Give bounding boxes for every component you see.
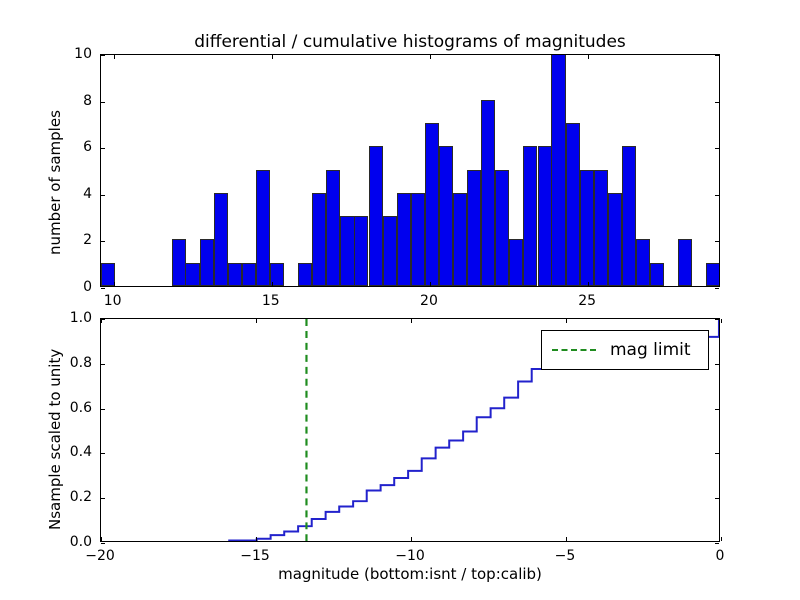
- histogram-bar: [523, 146, 537, 286]
- y-tick-mark: [715, 55, 719, 56]
- bottom-axis-label-x: magnitude (bottom:isnt / top:calib): [160, 565, 660, 583]
- y-tick-mark: [101, 364, 105, 365]
- histogram-bar: [298, 263, 312, 286]
- x-tick-label: 10: [104, 293, 122, 309]
- differential-histogram-axes: [100, 54, 720, 287]
- histogram-bar: [354, 216, 368, 286]
- histogram-bar: [383, 216, 397, 286]
- histogram-bar: [608, 193, 622, 286]
- y-tick-label: 0: [48, 279, 92, 295]
- y-tick-mark: [101, 241, 105, 242]
- x-tick-mark: [256, 537, 257, 541]
- x-tick-mark: [272, 55, 273, 59]
- x-tick-label: −10: [395, 548, 425, 564]
- x-tick-label: 15: [262, 293, 280, 309]
- x-tick-mark: [721, 319, 722, 323]
- histogram-bar: [509, 239, 523, 286]
- x-tick-mark: [588, 55, 589, 59]
- histogram-bar: [566, 123, 580, 286]
- histogram-bar: [594, 170, 608, 287]
- histogram-bar: [481, 100, 495, 286]
- histogram-bar: [636, 239, 650, 286]
- x-tick-label: −20: [85, 548, 115, 564]
- x-tick-mark: [566, 319, 567, 323]
- y-tick-mark: [715, 543, 719, 544]
- histogram-bar: [369, 146, 383, 286]
- histogram-bar: [214, 193, 228, 286]
- histogram-bar: [467, 170, 481, 287]
- histogram-bar: [495, 170, 509, 287]
- mag-limit-legend-label: mag limit: [610, 340, 691, 360]
- histogram-bar: [256, 170, 270, 287]
- x-tick-label: 0: [716, 548, 725, 564]
- y-tick-mark: [101, 319, 105, 320]
- x-tick-label: 25: [578, 293, 596, 309]
- y-tick-mark: [715, 498, 719, 499]
- x-tick-mark: [411, 319, 412, 323]
- y-tick-mark: [715, 319, 719, 320]
- histogram-bar: [200, 239, 214, 286]
- y-tick-label: 0.8: [48, 355, 92, 371]
- figure-canvas: differential / cumulative histograms of …: [0, 0, 800, 600]
- histogram-bar: [622, 146, 636, 286]
- x-tick-label: −15: [240, 548, 270, 564]
- histogram-bar: [439, 146, 453, 286]
- histogram-bar: [650, 263, 664, 286]
- y-tick-label: 0.6: [48, 400, 92, 416]
- y-tick-mark: [715, 288, 719, 289]
- x-tick-mark: [430, 282, 431, 286]
- x-tick-mark: [114, 55, 115, 59]
- y-tick-mark: [715, 195, 719, 196]
- histogram-bar: [580, 170, 594, 287]
- x-tick-mark: [272, 282, 273, 286]
- y-tick-mark: [101, 453, 105, 454]
- x-tick-mark: [721, 537, 722, 541]
- histogram-bar: [678, 239, 692, 286]
- y-tick-label: 6: [48, 139, 92, 155]
- y-tick-label: 0.4: [48, 444, 92, 460]
- x-tick-mark: [588, 282, 589, 286]
- y-tick-mark: [101, 195, 105, 196]
- histogram-bar: [228, 263, 242, 286]
- differential-plot-area: [101, 55, 719, 286]
- histogram-bar: [185, 263, 199, 286]
- legend-box: mag limit: [541, 330, 709, 370]
- y-tick-label: 0.0: [48, 534, 92, 550]
- y-tick-mark: [715, 453, 719, 454]
- y-tick-mark: [101, 55, 105, 56]
- y-tick-label: 0.2: [48, 489, 92, 505]
- y-tick-mark: [715, 364, 719, 365]
- y-tick-label: 2: [48, 232, 92, 248]
- x-tick-mark: [256, 319, 257, 323]
- histogram-bar: [326, 170, 340, 287]
- y-tick-mark: [101, 498, 105, 499]
- histogram-bar: [172, 239, 186, 286]
- histogram-bar: [425, 123, 439, 286]
- y-tick-label: 8: [48, 93, 92, 109]
- histogram-bar: [551, 55, 565, 286]
- y-tick-mark: [715, 409, 719, 410]
- histogram-bar: [411, 193, 425, 286]
- figure-title: differential / cumulative histograms of …: [100, 32, 720, 52]
- y-tick-label: 10: [48, 46, 92, 62]
- x-tick-mark: [566, 537, 567, 541]
- x-tick-mark: [114, 282, 115, 286]
- y-tick-mark: [101, 543, 105, 544]
- x-tick-mark: [430, 55, 431, 59]
- y-tick-mark: [715, 241, 719, 242]
- y-tick-mark: [715, 148, 719, 149]
- x-tick-mark: [411, 537, 412, 541]
- histogram-bar: [706, 263, 719, 286]
- histogram-bar: [242, 263, 256, 286]
- mag-limit-legend-swatch: [552, 349, 596, 351]
- y-tick-label: 1.0: [48, 310, 92, 326]
- histogram-bar: [453, 193, 467, 286]
- x-tick-mark: [101, 537, 102, 541]
- y-tick-mark: [101, 288, 105, 289]
- histogram-bar: [538, 146, 552, 286]
- x-tick-label: −5: [555, 548, 576, 564]
- y-tick-mark: [101, 102, 105, 103]
- y-tick-mark: [101, 148, 105, 149]
- histogram-bar: [340, 216, 354, 286]
- y-tick-mark: [715, 102, 719, 103]
- y-tick-label: 4: [48, 186, 92, 202]
- histogram-bar: [397, 193, 411, 286]
- histogram-bar: [312, 193, 326, 286]
- y-tick-mark: [101, 409, 105, 410]
- x-tick-label: 20: [420, 293, 438, 309]
